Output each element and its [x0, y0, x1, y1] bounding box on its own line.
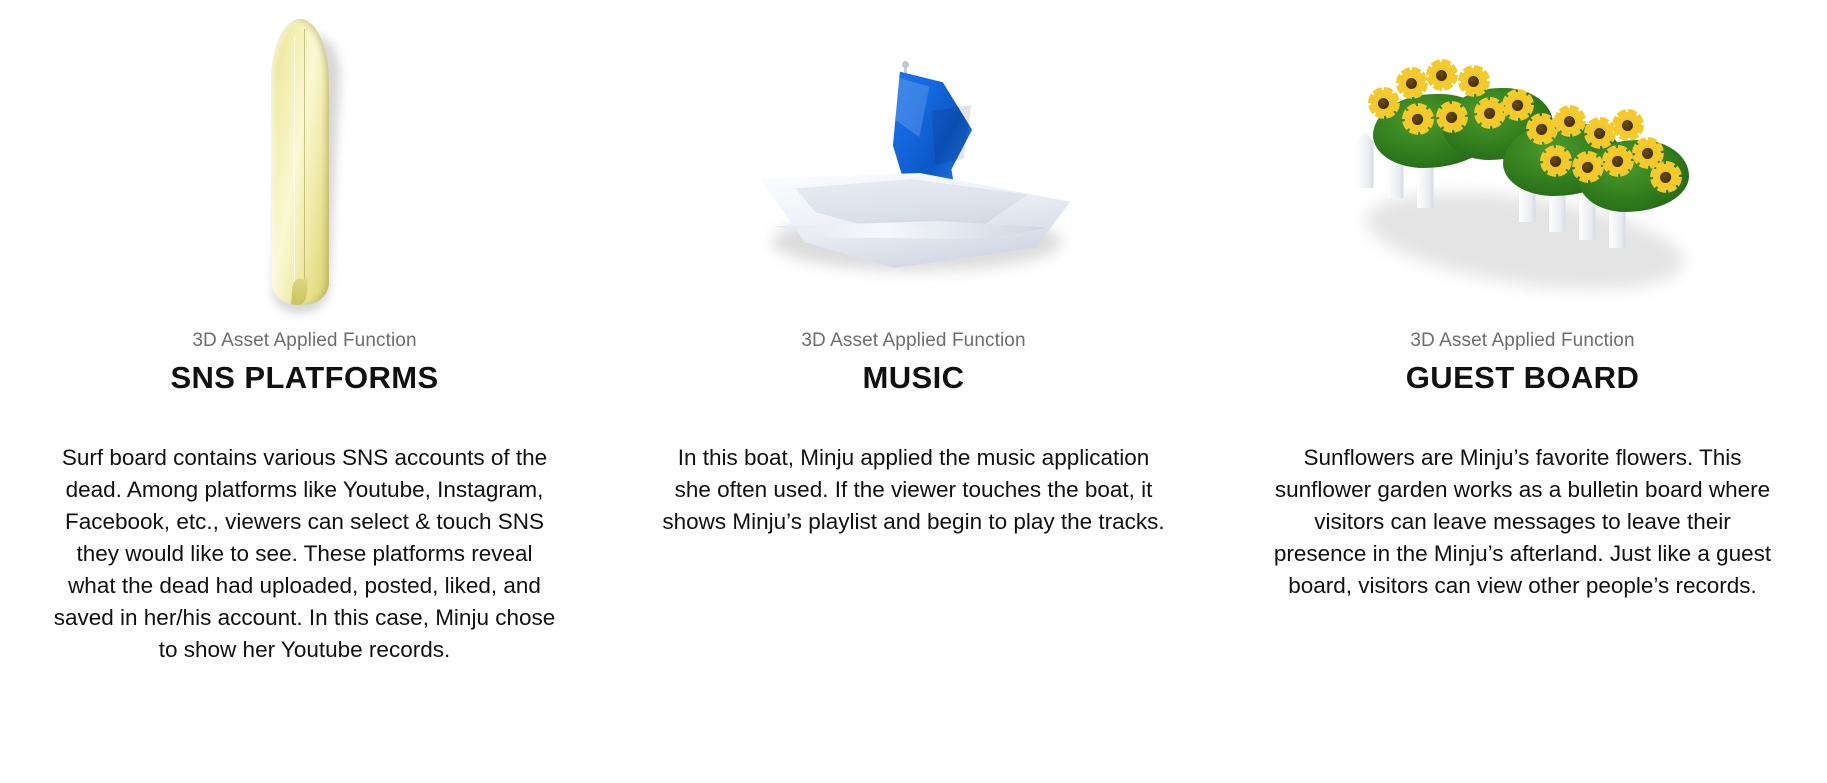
feature-grid-page: 3D Asset Applied Function SNS PLATFORMS … — [0, 0, 1827, 783]
feature-column-guest-board: 3D Asset Applied Function GUEST BOARD Su… — [1218, 0, 1827, 783]
surfboard-seam-center — [304, 29, 306, 295]
artwork-area-guest-board — [1218, 0, 1827, 330]
surfboard-body — [271, 19, 329, 305]
sunflower-core — [1484, 108, 1495, 119]
sunflower — [1575, 154, 1601, 180]
sunflower — [1587, 120, 1613, 146]
sunflower — [1461, 68, 1487, 94]
sunflower — [1371, 90, 1397, 116]
sunflower — [1605, 148, 1631, 174]
artwork-area-sns-platforms — [0, 0, 609, 330]
heading-music: MUSIC — [609, 359, 1218, 396]
sunflower-core — [1642, 148, 1653, 159]
heading-guest-board: GUEST BOARD — [1218, 359, 1827, 396]
sunflower-core — [1612, 156, 1623, 167]
body-text-music: In this boat, Minju applied the music ap… — [661, 442, 1166, 538]
sunflower-core — [1412, 114, 1423, 125]
sunflower-core — [1446, 112, 1457, 123]
fence-picket — [1357, 132, 1374, 188]
sunflower — [1405, 106, 1431, 132]
sunflower-core — [1436, 70, 1447, 81]
sunflower-core — [1622, 120, 1633, 131]
sailboat-sail-facet-shade — [932, 105, 972, 165]
surfboard-icon — [245, 19, 365, 319]
caption-sns-platforms: 3D Asset Applied Function SNS PLATFORMS — [0, 330, 609, 396]
sunflower — [1543, 148, 1569, 174]
sunflower — [1399, 70, 1425, 96]
sunflower — [1505, 92, 1531, 118]
sunflower-core — [1512, 100, 1523, 111]
sunflower — [1635, 140, 1661, 166]
feature-column-sns-platforms: 3D Asset Applied Function SNS PLATFORMS … — [0, 0, 609, 783]
eyebrow-label-sns-platforms: 3D Asset Applied Function — [0, 330, 609, 353]
sunflower — [1557, 108, 1583, 134]
sunflower-core — [1378, 98, 1389, 109]
sunflower-core — [1594, 128, 1605, 139]
sunflower-core — [1550, 156, 1561, 167]
sunflower-core — [1406, 78, 1417, 89]
sunflower — [1615, 112, 1641, 138]
sunflower-core — [1564, 116, 1575, 127]
heading-sns-platforms: SNS PLATFORMS — [0, 359, 609, 396]
sunflower — [1653, 164, 1679, 190]
sunflower — [1477, 100, 1503, 126]
sailboat-icon — [744, 45, 1084, 295]
feature-column-music: 3D Asset Applied Function MUSIC In this … — [609, 0, 1218, 783]
eyebrow-label-guest-board: 3D Asset Applied Function — [1218, 330, 1827, 353]
sunflower — [1439, 104, 1465, 130]
body-text-sns-platforms: Surf board contains various SNS accounts… — [52, 442, 557, 666]
caption-guest-board: 3D Asset Applied Function GUEST BOARD — [1218, 330, 1827, 396]
sunflower-core — [1468, 76, 1479, 87]
body-text-guest-board: Sunflowers are Minju’s favorite flowers.… — [1270, 442, 1775, 602]
sunflower-garden-icon — [1343, 48, 1703, 298]
sunflower-core — [1536, 124, 1547, 135]
sunflower-core — [1660, 172, 1671, 183]
sunflower-core — [1582, 162, 1593, 173]
caption-music: 3D Asset Applied Function MUSIC — [609, 330, 1218, 396]
sailboat-mast-top — [902, 61, 909, 68]
sunflower — [1529, 116, 1555, 142]
sunflower — [1429, 62, 1455, 88]
eyebrow-label-music: 3D Asset Applied Function — [609, 330, 1218, 353]
artwork-area-music — [609, 0, 1218, 330]
